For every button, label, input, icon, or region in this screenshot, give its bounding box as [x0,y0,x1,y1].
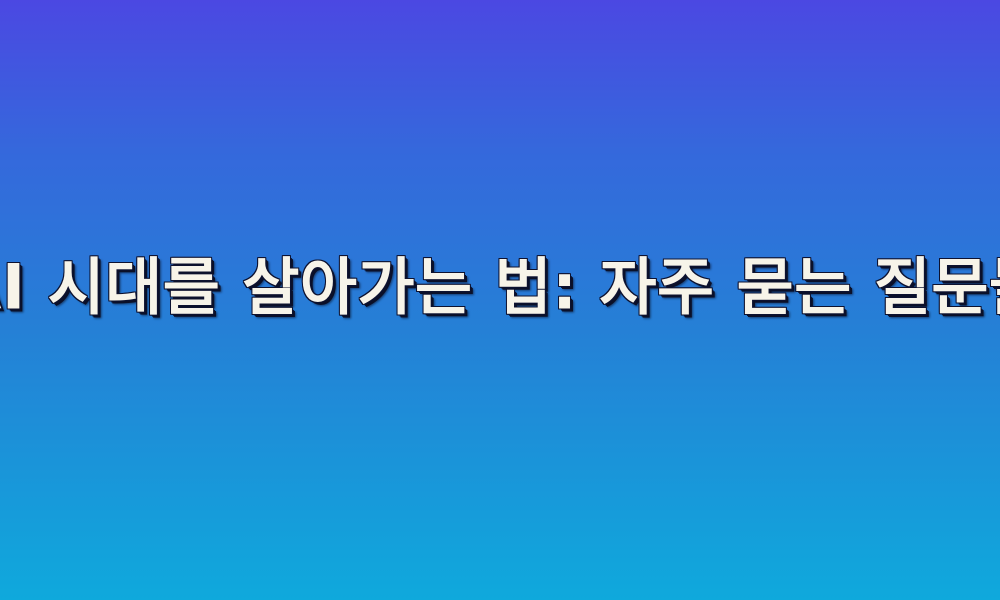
title-row: AI 시대를 살아가는 법: 자주 묻는 질문들 [0,254,1000,319]
banner-title: AI 시대를 살아가는 법: 자주 묻는 질문들 [0,254,1000,319]
banner-canvas: AI 시대를 살아가는 법: 자주 묻는 질문들 [0,0,1000,600]
